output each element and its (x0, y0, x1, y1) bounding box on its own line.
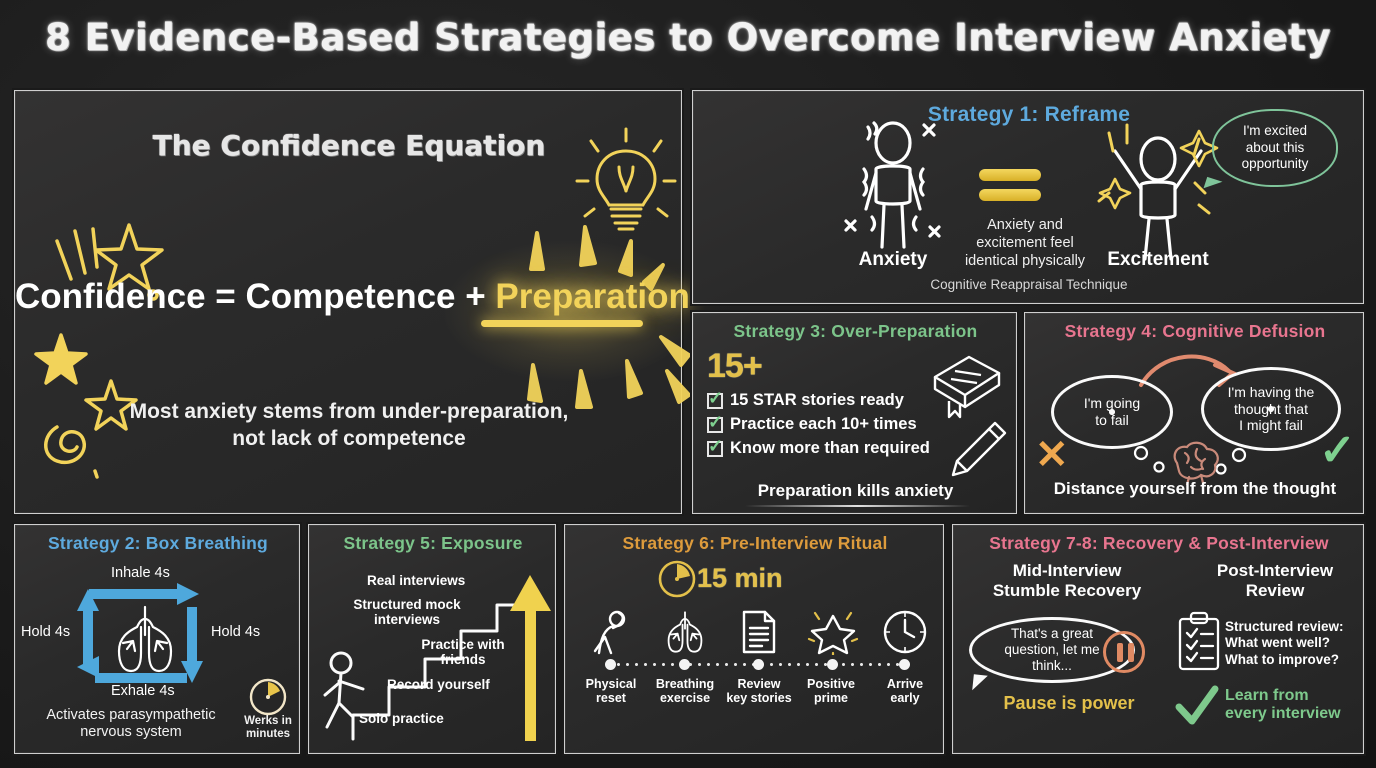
badge-line2: minutes (237, 728, 299, 741)
strategy-4-footer: Distance yourself from the thought (1025, 479, 1365, 499)
clipboard-icon (1175, 611, 1223, 673)
timeline-label-line2: exercise (649, 691, 721, 705)
list-item-label: 15 STAR stories ready (730, 391, 904, 410)
learn-line1: Learn from (1225, 687, 1365, 705)
strategy-5-step-4: Record yourself (387, 677, 490, 692)
panel-strategy-4: Strategy 4: Cognitive Defusion I'm going… (1024, 312, 1364, 514)
strategy-8-title-line2: Review (1189, 581, 1361, 601)
hero-subtitle-line1: Most anxiety stems from under-preparatio… (75, 399, 623, 426)
list-item-label: Know more than required (730, 439, 930, 458)
strategy-2-badge-label: Werks in minutes (237, 715, 299, 741)
strategy-2-top-label: Inhale 4s (111, 565, 170, 581)
strategy-8-title-line1: Post-Interview (1189, 561, 1361, 581)
strategy-8-title: Post-Interview Review (1189, 561, 1361, 602)
panel-strategy-5: Strategy 5: Exposure Real interviews (308, 524, 556, 754)
strategy-2-left-label: Hold 4s (21, 624, 70, 640)
panel-strategy-2: Strategy 2: Box Breathing Inhale 4s Hold… (14, 524, 300, 754)
equation-text: Confidence = Competence + (15, 277, 495, 316)
timer-icon (248, 677, 288, 717)
speech-line2: about this (1242, 140, 1309, 156)
strategy-1-footer: Cognitive Reappraisal Technique (693, 277, 1365, 292)
list-item: Practice each 10+ times (707, 415, 967, 434)
strategy-6-heading: Strategy 6: Pre-Interview Ritual (565, 533, 945, 554)
strategy-2-footer-line2: nervous system (19, 724, 243, 741)
timeline-label: Physical reset (575, 677, 647, 706)
timeline-dot (753, 659, 764, 670)
hero-subtitle: Most anxiety stems from under-preparatio… (75, 399, 623, 453)
strategy-1-right-label: Excitement (1093, 249, 1223, 271)
climbing-person-icon (319, 651, 379, 743)
strategy-5-step-2-label: Structured mock interviews (353, 597, 460, 627)
timeline-item (869, 609, 941, 655)
speech-line1: That's a great (1004, 626, 1099, 642)
cloud-right-line2: thought that (1228, 401, 1315, 418)
speech-line1: I'm excited (1242, 123, 1309, 139)
cloud-left-line2: to fail (1084, 412, 1140, 429)
strategy-7-8-heading: Strategy 7-8: Recovery & Post-Interview (953, 533, 1365, 554)
strategy-5-step-2: Structured mock interviews (347, 597, 467, 627)
strategy-7-footer: Pause is power (961, 693, 1177, 714)
confidence-equation: Confidence = Competence + Preparation (15, 277, 683, 317)
clock-icon (882, 609, 928, 655)
strategy-3-list: 15 STAR stories ready Practice each 10+ … (707, 391, 967, 463)
review-line2: What went well? (1225, 635, 1365, 651)
timeline-label-line1: Review (717, 677, 801, 691)
strategy-3-heading: Strategy 3: Over-Preparation (693, 321, 1018, 342)
timeline-label-line2: early (869, 691, 941, 705)
strategy-2-footer: Activates parasympathetic nervous system (19, 707, 243, 742)
list-item: Know more than required (707, 439, 967, 458)
strategy-3-footer: Preparation kills anxiety (693, 481, 1018, 501)
timeline-dot (679, 659, 690, 670)
timeline-label-line2: key stories (717, 691, 801, 705)
strategy-5-step-1: Real interviews (367, 573, 465, 588)
hero-title: The Confidence Equation (15, 129, 683, 162)
panel-strategy-3: Strategy 3: Over-Preparation 15+ 15 (692, 312, 1017, 514)
timeline-label: Positive prime (795, 677, 867, 706)
learn-line2: every interview (1225, 705, 1365, 723)
timeline-label-line1: Breathing (649, 677, 721, 691)
strategy-2-heading: Strategy 2: Box Breathing (15, 533, 301, 554)
box-breathing-arrows-icon (71, 583, 211, 695)
timeline-label-line1: Positive (795, 677, 867, 691)
timeline-label: Arrive early (869, 677, 941, 706)
timeline-label-line2: prime (795, 691, 867, 705)
cloud-left-line1: I'm going (1084, 395, 1140, 412)
panel-strategy-1: Strategy 1: Reframe Anxiety (692, 90, 1364, 304)
panel-confidence-equation: The Confidence Equation (14, 90, 682, 514)
check-mark-icon: ✓ (1319, 429, 1356, 473)
speech-bubble-tail-icon (972, 674, 988, 691)
strategy-6-duration: 15 min (697, 563, 783, 594)
timeline-dot (827, 659, 838, 670)
document-icon (739, 609, 779, 655)
panel-strategy-6: Strategy 6: Pre-Interview Ritual 15 min … (564, 524, 944, 754)
check-icon (1173, 683, 1221, 729)
strategy-8-learn-text: Learn from every interview (1225, 687, 1365, 724)
strategy-7-title: Mid-Interview Stumble Recovery (959, 561, 1175, 602)
list-item: 15 STAR stories ready (707, 391, 967, 410)
speech-bubble-tail-icon (1204, 177, 1223, 193)
strategy-2-bottom-label: Exhale 4s (111, 683, 175, 699)
strategy-5-step-5: Solo practice (359, 711, 444, 726)
timeline-dot (605, 659, 616, 670)
lungs-icon (661, 609, 709, 655)
thought-cloud-icon: I'm going to fail (1051, 375, 1173, 449)
strategy-7-title-line2: Stumble Recovery (959, 581, 1175, 601)
strategy-7-title-line1: Mid-Interview (959, 561, 1175, 581)
equation-underline (481, 320, 643, 327)
pause-icon (1103, 631, 1145, 673)
checkbox-icon[interactable] (707, 441, 723, 457)
strategy-8-review-text: Structured review: What went well? What … (1225, 619, 1365, 668)
strategy-3-underline (745, 505, 970, 507)
strategy-3-big-number: 15+ (707, 347, 762, 386)
strategy-2-right-label: Hold 4s (211, 624, 260, 640)
timeline-dot (899, 659, 910, 670)
badge-line1: Werks in (237, 715, 299, 728)
clock-icon (657, 559, 697, 599)
checkbox-icon[interactable] (707, 393, 723, 409)
stretching-person-icon (587, 609, 635, 655)
strategy-2-footer-line1: Activates parasympathetic (19, 707, 243, 724)
speech-line3: think... (1004, 658, 1099, 674)
star-icon (807, 609, 859, 655)
cloud-right-line1: I'm having the (1228, 384, 1315, 401)
strategy-5-step-3: Practice with friends (405, 637, 521, 667)
sparkle-icon (445, 225, 695, 410)
timeline-item (649, 609, 721, 655)
timeline-label-line1: Physical (575, 677, 647, 691)
cloud-right-line3: I might fail (1228, 417, 1315, 434)
panel-strategy-7-8: Strategy 7-8: Recovery & Post-Interview … (952, 524, 1364, 754)
list-item-label: Practice each 10+ times (730, 415, 917, 434)
review-line1: Structured review: (1225, 619, 1365, 635)
strategy-1-speech-bubble: I'm excited about this opportunity (1212, 109, 1338, 187)
review-line3: What to improve? (1225, 652, 1365, 668)
strategy-4-heading: Strategy 4: Cognitive Defusion (1025, 321, 1365, 342)
timeline-item (797, 609, 869, 655)
strategy-5-heading: Strategy 5: Exposure (309, 533, 557, 554)
page-title: 8 Evidence-Based Strategies to Overcome … (0, 16, 1376, 59)
infographic-board: 8 Evidence-Based Strategies to Overcome … (0, 0, 1376, 768)
equation-highlight: Preparation (495, 277, 690, 316)
lungs-icon (107, 601, 183, 677)
speech-line2: question, let me (1004, 642, 1099, 658)
checkbox-icon[interactable] (707, 417, 723, 433)
strategy-1-middle-line1: Anxiety and (915, 216, 1135, 234)
strategy-5-step-3-label: Practice with friends (421, 637, 504, 667)
timeline-label-line1: Arrive (869, 677, 941, 691)
timeline-label: Review key stories (717, 677, 801, 706)
speech-line3: opportunity (1242, 156, 1309, 172)
hero-subtitle-line2: not lack of competence (75, 426, 623, 453)
timeline-label-line2: reset (575, 691, 647, 705)
timeline-item (575, 609, 647, 655)
timeline-label: Breathing exercise (649, 677, 721, 706)
timeline-item (723, 609, 795, 655)
cross-mark-icon: ✕ (1035, 435, 1069, 475)
